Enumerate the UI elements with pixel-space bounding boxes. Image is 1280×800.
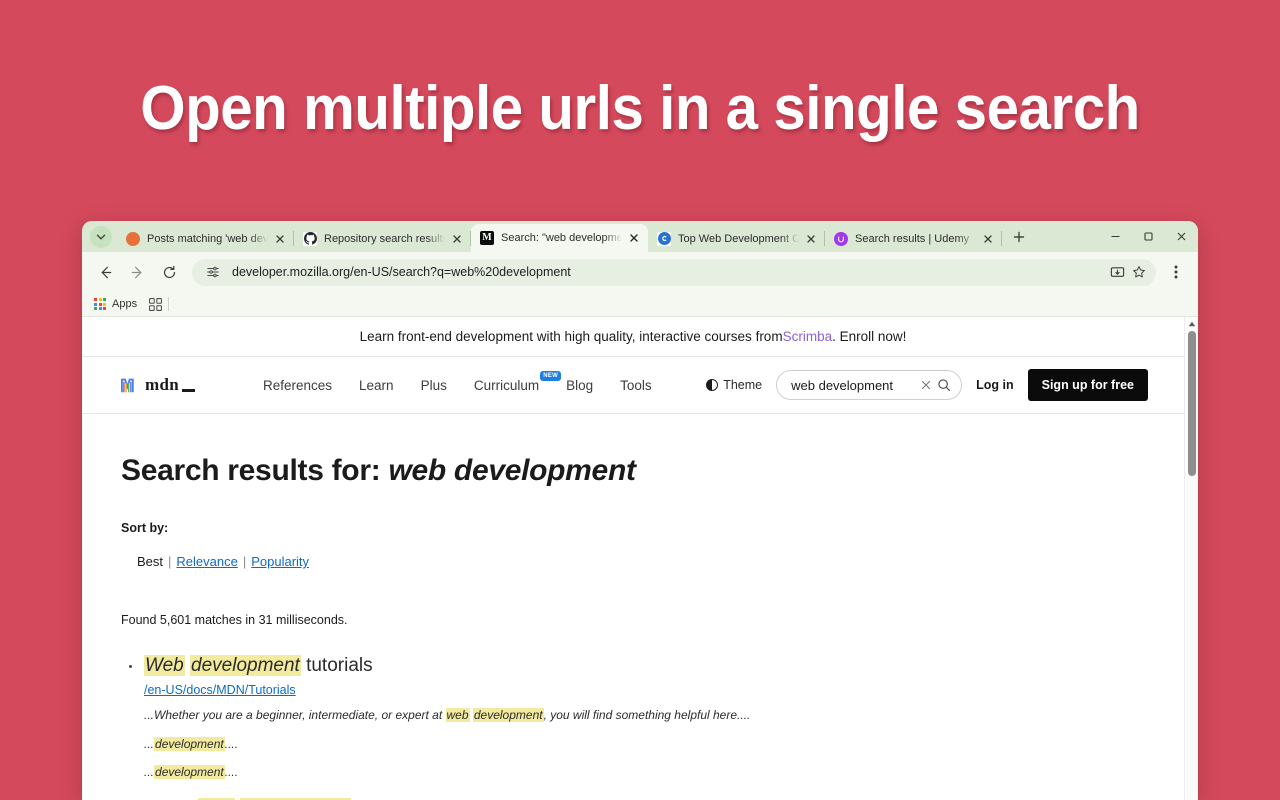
highlighted-term: Web: [144, 655, 185, 676]
page-scrollbar[interactable]: [1184, 317, 1198, 800]
nav-references[interactable]: References: [263, 378, 332, 393]
tab-reddit[interactable]: Posts matching 'web development': [117, 225, 294, 252]
tab-udemy[interactable]: Search results | Udemy: [825, 225, 1002, 252]
scroll-up-arrow-icon[interactable]: [1185, 317, 1198, 330]
sort-option-relevance[interactable]: Relevance: [176, 554, 237, 569]
close-icon[interactable]: [272, 231, 287, 246]
result-snippet: ...development....: [144, 762, 1184, 783]
highlighted-term: development: [473, 708, 544, 722]
site-settings-icon[interactable]: [202, 261, 224, 283]
theme-label: Theme: [723, 378, 762, 392]
kebab-menu-icon[interactable]: [1164, 259, 1188, 285]
divider: |: [168, 554, 171, 569]
tab-search-icon[interactable]: [90, 226, 112, 248]
divider: |: [243, 554, 246, 569]
nav-curriculum[interactable]: CurriculumNEW: [474, 378, 539, 393]
result-url[interactable]: /en-US/docs/MDN/Tutorials: [144, 683, 1184, 697]
results-title-query: web development: [388, 454, 635, 487]
promo-suffix: . Enroll now!: [832, 329, 906, 344]
clear-x-icon[interactable]: [917, 376, 935, 394]
highlighted-term: development: [154, 737, 225, 751]
close-icon[interactable]: [1165, 221, 1198, 252]
promo-banner: Learn front-end development with high qu…: [82, 317, 1184, 357]
sort-options: Best|Relevance|Popularity: [121, 554, 1184, 569]
text-run: , you will find something helpful here..…: [544, 708, 751, 722]
highlighted-term: web: [446, 708, 470, 722]
back-arrow-icon[interactable]: [92, 259, 118, 285]
tab-title: Search: "web development": [501, 232, 622, 244]
reading-list-icon[interactable]: [149, 297, 169, 311]
page-viewport: Learn front-end development with high qu…: [82, 317, 1198, 800]
sort-option-popularity[interactable]: Popularity: [251, 554, 309, 569]
divider: [168, 297, 169, 311]
mdn-site-header: mdn References Learn Plus CurriculumNEW …: [82, 357, 1184, 414]
tab-title: Posts matching 'web development': [147, 233, 268, 245]
nav-curriculum-label: Curriculum: [474, 378, 539, 393]
tab-title: Top Web Development Courses: [678, 233, 799, 245]
search-results-content: Search results for: web development Sort…: [82, 414, 1184, 800]
search-icon[interactable]: [935, 376, 953, 394]
reddit-icon: [126, 232, 140, 246]
maximize-icon[interactable]: [1132, 221, 1165, 252]
match-count-text: Found 5,601 matches in 31 milliseconds.: [121, 613, 1184, 627]
close-icon[interactable]: [980, 231, 995, 246]
search-value: web development: [791, 378, 917, 393]
bookmark-star-icon[interactable]: [1128, 261, 1150, 283]
mdn-icon: M: [480, 231, 494, 245]
scrimba-link[interactable]: Scrimba: [783, 329, 833, 344]
bookmark-apps[interactable]: Apps: [94, 298, 137, 310]
tab-strip: Posts matching 'web development' Reposit…: [82, 221, 1198, 252]
github-icon: [303, 232, 317, 246]
text-run: ....: [225, 765, 238, 779]
new-tab-button[interactable]: [1006, 224, 1032, 250]
tab-title: Repository search results: [324, 233, 445, 245]
text-run: ...: [144, 765, 154, 779]
mdn-m-glyph: [120, 375, 142, 395]
result-snippet: ...development....: [144, 734, 1184, 755]
close-icon[interactable]: [449, 231, 464, 246]
mdn-main-nav: References Learn Plus CurriculumNEW Blog…: [263, 378, 652, 393]
web-page: Learn front-end development with high qu…: [82, 317, 1184, 800]
login-link[interactable]: Log in: [976, 378, 1014, 392]
tab-mdn-active[interactable]: M Search: "web development": [471, 224, 648, 252]
mdn-logo[interactable]: mdn: [120, 375, 195, 395]
close-icon[interactable]: [626, 231, 641, 246]
signup-button[interactable]: Sign up for free: [1028, 369, 1148, 401]
promo-prefix: Learn front-end development with high qu…: [360, 329, 783, 344]
apps-grid-icon: [94, 298, 106, 310]
highlighted-term: development: [190, 655, 301, 676]
result-title[interactable]: Web development tutorials: [144, 654, 1184, 678]
tab-github[interactable]: Repository search results: [294, 225, 471, 252]
sort-by-label: Sort by:: [121, 521, 1184, 535]
tab-title: Search results | Udemy: [855, 233, 976, 245]
minimize-icon[interactable]: [1099, 221, 1132, 252]
nav-blog[interactable]: Blog: [566, 378, 593, 393]
scrollbar-thumb[interactable]: [1188, 331, 1196, 476]
nav-learn[interactable]: Learn: [359, 378, 394, 393]
page-title: Open multiple urls in a single search: [38, 72, 1241, 146]
coursera-icon: [657, 232, 671, 246]
sort-option-best[interactable]: Best: [137, 554, 163, 569]
tab-divider: [1001, 231, 1002, 246]
window-controls: [1099, 221, 1198, 252]
theme-contrast-icon: [706, 379, 718, 391]
reload-icon[interactable]: [156, 259, 182, 285]
close-icon[interactable]: [803, 231, 818, 246]
address-bar[interactable]: developer.mozilla.org/en-US/search?q=web…: [192, 259, 1156, 286]
result-snippet: ...Whether you are a beginner, intermedi…: [144, 705, 1184, 726]
udemy-icon: [834, 232, 848, 246]
results-title-prefix: Search results for:: [121, 454, 388, 487]
url-text: developer.mozilla.org/en-US/search?q=web…: [232, 265, 1106, 279]
theme-switcher[interactable]: Theme: [706, 378, 762, 392]
search-results-heading: Search results for: web development: [121, 454, 1184, 488]
text-run: ...Whether you are a beginner, intermedi…: [144, 708, 446, 722]
list-item: Web development tutorials /en-US/docs/MD…: [121, 654, 1184, 783]
forward-arrow-icon[interactable]: [124, 259, 150, 285]
browser-toolbar: developer.mozilla.org/en-US/search?q=web…: [82, 252, 1198, 292]
mdn-logo-text: mdn: [145, 375, 179, 395]
site-search-input[interactable]: web development: [776, 370, 962, 400]
text-run: ...: [144, 737, 154, 751]
browser-window: Posts matching 'web development' Reposit…: [82, 221, 1198, 800]
highlighted-term: development: [154, 765, 225, 779]
nav-tools[interactable]: Tools: [620, 378, 652, 393]
nav-plus[interactable]: Plus: [421, 378, 447, 393]
install-app-icon[interactable]: [1106, 261, 1128, 283]
results-list: Web development tutorials /en-US/docs/MD…: [121, 654, 1184, 800]
list-item: Learn web development /en-US/docs/Learn_…: [121, 797, 1184, 800]
result-title[interactable]: Learn web development: [144, 797, 1184, 800]
header-actions: Theme web development Log in Sign up for…: [706, 369, 1148, 401]
mdn-logo-underscore: [182, 389, 195, 392]
text-run: tutorials: [301, 655, 373, 676]
new-badge: NEW: [540, 371, 561, 381]
text-run: ....: [225, 737, 238, 751]
bookmarks-bar: Apps: [82, 292, 1198, 317]
bookmark-label: Apps: [112, 298, 137, 310]
tab-list: Posts matching 'web development' Reposit…: [117, 224, 1099, 252]
tab-coursera[interactable]: Top Web Development Courses: [648, 225, 825, 252]
